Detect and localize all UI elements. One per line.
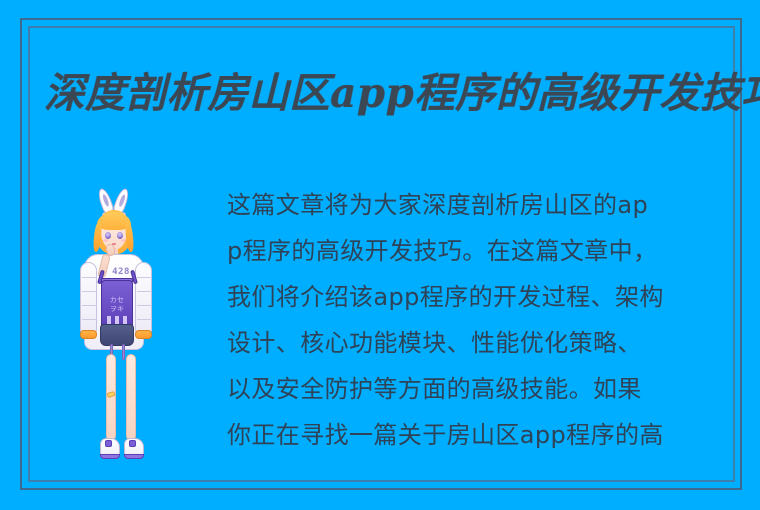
sleeve-fold xyxy=(137,319,152,320)
sneaker-sole-left xyxy=(100,454,120,459)
jacket-sleeve-left xyxy=(80,262,97,338)
sleeve-fold xyxy=(82,291,97,292)
body-text-line: 设计、核心功能模块、性能优化策略、 xyxy=(227,320,735,366)
shorts xyxy=(100,324,134,346)
body-text-line: 以及安全防护等方面的高级技能。如果 xyxy=(227,366,735,412)
body-text-line: 你正在寻找一篇关于房山区app程序的高 xyxy=(227,412,735,458)
bag-print-label: カセ ヲキ xyxy=(105,296,129,316)
sleeve-fold xyxy=(137,277,152,278)
body-text-line: 这篇文章将为大家深度剖析房山区的ap xyxy=(227,182,735,228)
blush-right xyxy=(121,239,126,242)
sleeve-fold xyxy=(82,277,97,278)
eye-left xyxy=(105,232,111,239)
jacket-hem-band-right xyxy=(135,330,152,339)
eye-right xyxy=(117,232,123,239)
sneaker-tongue-left xyxy=(105,440,112,447)
blush-left xyxy=(103,239,108,242)
sleeve-fold xyxy=(82,319,97,320)
body-text-line: 我们将介绍该app程序的开发过程、架构 xyxy=(227,274,735,320)
jacket-sleeve-right xyxy=(135,262,152,338)
strap-detail xyxy=(122,344,125,360)
body-text-line: p程序的高级开发技巧。在这篇文章中， xyxy=(227,228,735,274)
sleeve-fold xyxy=(137,291,152,292)
sneaker-sole-right xyxy=(124,454,144,459)
character-illustration: 428 カセ ヲキ xyxy=(62,184,188,476)
banner-headline: 深度剖析房山区app程序的高级开发技巧 xyxy=(44,56,726,122)
sleeve-fold xyxy=(82,305,97,306)
banner-canvas: 深度剖析房山区app程序的高级开发技巧 这篇文章将为大家深度剖析房山区的ap p… xyxy=(0,0,760,510)
jacket-hem-band-left xyxy=(80,330,97,339)
leg-right xyxy=(126,354,136,440)
sneaker-tongue-right xyxy=(129,440,136,447)
sleeve-fold xyxy=(137,305,152,306)
banner-body-text: 这篇文章将为大家深度剖析房山区的ap p程序的高级开发技巧。在这篇文章中， 我们… xyxy=(227,182,735,458)
